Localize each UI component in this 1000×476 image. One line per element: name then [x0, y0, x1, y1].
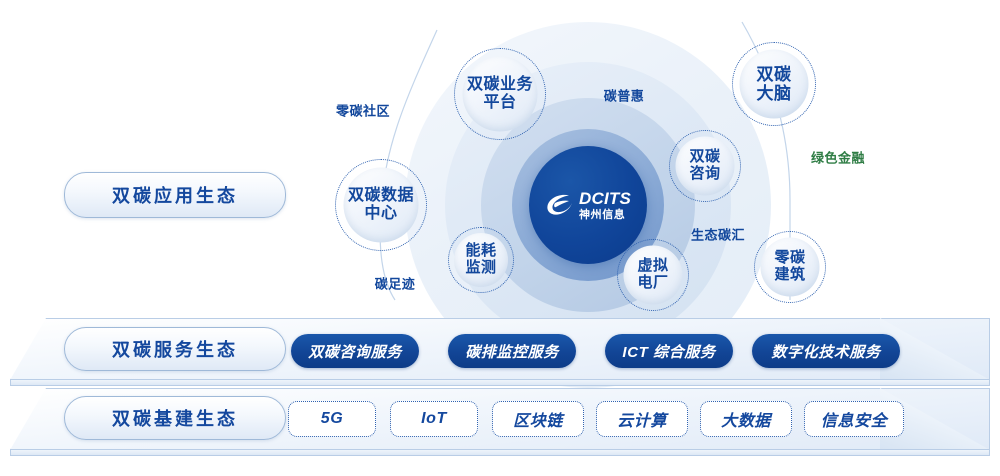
- application-bubble[interactable]: 能耗 监测: [448, 227, 514, 293]
- service-pill[interactable]: 碳排监控服务: [448, 334, 576, 368]
- service-pill[interactable]: ICT 综合服务: [605, 334, 733, 368]
- floating-keyword-label: 零碳社区: [336, 101, 390, 120]
- logo-text-cn: 神州信息: [579, 210, 631, 221]
- infrastructure-pill[interactable]: 5G: [288, 401, 376, 437]
- service-band-base: [10, 379, 990, 386]
- application-bubble[interactable]: 虚拟 电厂: [617, 239, 689, 311]
- infrastructure-pill[interactable]: 信息安全: [804, 401, 904, 437]
- bubble-label: 双碳 大脑: [757, 65, 792, 103]
- row-label-infrastructure-ecosystem[interactable]: 双碳基建生态: [64, 396, 286, 440]
- bubble-label: 双碳数据 中心: [348, 187, 414, 223]
- bubble-label: 能耗 监测: [465, 243, 496, 277]
- bubble-label: 双碳 咨询: [689, 149, 720, 183]
- service-pill[interactable]: 双碳咨询服务: [291, 334, 419, 368]
- floating-keyword-label: 绿色金融: [811, 148, 865, 167]
- infrastructure-band-base: [10, 449, 990, 456]
- service-pill[interactable]: 数字化技术服务: [752, 334, 900, 368]
- application-bubble[interactable]: 双碳业务 平台: [454, 48, 546, 140]
- bubble-label: 双碳业务 平台: [467, 76, 533, 112]
- diagram-canvas: DCITS 神州信息 双碳业务 平台双碳数据 中心能耗 监测双碳 咨询双碳 大脑…: [0, 0, 1000, 476]
- infrastructure-pill[interactable]: 区块链: [492, 401, 584, 437]
- dcits-swoosh-icon: [545, 192, 575, 218]
- row-label-service-ecosystem[interactable]: 双碳服务生态: [64, 327, 286, 371]
- infrastructure-pill[interactable]: IoT: [390, 401, 478, 437]
- application-ecosystem-area: DCITS 神州信息 双碳业务 平台双碳数据 中心能耗 监测双碳 咨询双碳 大脑…: [0, 0, 1000, 318]
- logo-text-en: DCITS: [579, 190, 631, 207]
- floating-keyword-label: 碳足迹: [375, 274, 416, 293]
- application-bubble[interactable]: 双碳 大脑: [732, 42, 816, 126]
- bubble-label: 虚拟 电厂: [637, 258, 668, 292]
- infrastructure-pill[interactable]: 大数据: [700, 401, 792, 437]
- application-bubble[interactable]: 零碳 建筑: [754, 231, 826, 303]
- floating-keyword-label: 生态碳汇: [691, 225, 745, 244]
- floating-keyword-label: 碳普惠: [604, 86, 645, 105]
- application-bubble[interactable]: 双碳 咨询: [669, 130, 741, 202]
- row-label-application-ecosystem[interactable]: 双碳应用生态: [64, 172, 286, 218]
- bubble-label: 零碳 建筑: [774, 250, 805, 284]
- application-bubble[interactable]: 双碳数据 中心: [335, 159, 427, 251]
- infrastructure-pill[interactable]: 云计算: [596, 401, 688, 437]
